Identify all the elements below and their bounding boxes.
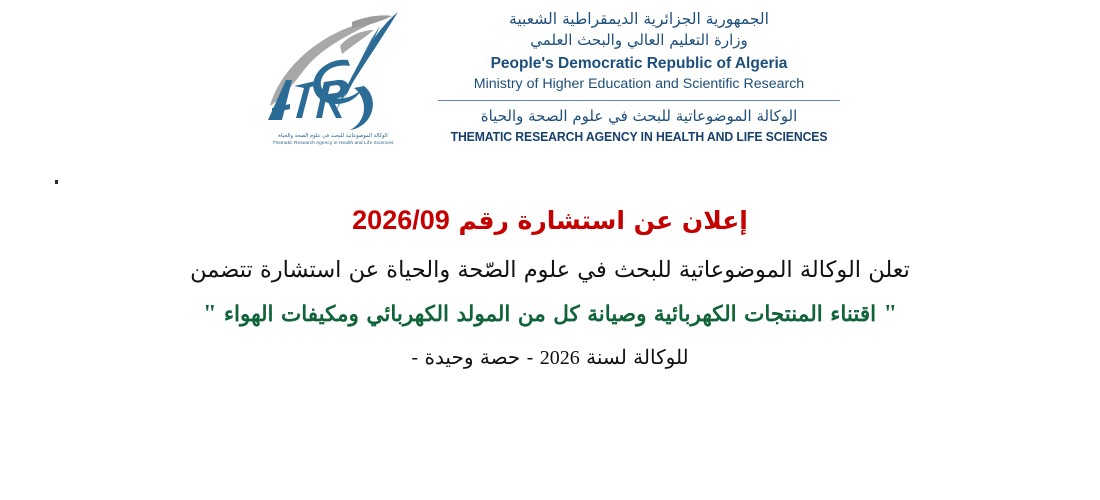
- republic-name-arabic: الجمهورية الجزائرية الديمقراطية الشعبية: [437, 8, 841, 30]
- ministry-header-text: الجمهورية الجزائرية الديمقراطية الشعبية …: [437, 8, 841, 147]
- announcement-number: 2026/09: [352, 205, 450, 235]
- agency-name-english: THEMATIC RESEARCH AGENCY IN HEALTH AND L…: [443, 128, 835, 147]
- republic-name-english: People's Democratic Republic of Algeria: [437, 54, 841, 75]
- announcement-body: إعلان عن استشارة رقم 2026/09 تعلن الوكال…: [0, 200, 1100, 374]
- announcement-subject-line: " اقتناء المنتجات الكهربائية وصيانة كل م…: [0, 295, 1100, 333]
- logo-caption-english: Thematic Research Agency in Health and L…: [252, 140, 414, 145]
- quote-open: ": [884, 301, 897, 327]
- announcement-footer-prefix: للوكالة لسنة: [586, 345, 689, 369]
- atrss-logo-mark: [252, 8, 422, 138]
- quote-close: ": [203, 301, 216, 327]
- announcement-year: 2026: [540, 347, 580, 369]
- announcement-footer-suffix: - حصة وحيدة -: [411, 345, 533, 369]
- announcement-page: { "colors": { "navy": "#1d4f7c", "red": …: [0, 0, 1100, 500]
- ministry-name-arabic: وزارة التعليم العالي والبحث العلمي: [437, 30, 841, 52]
- agency-name-arabic: الوكالة الموضوعاتية للبحث في علوم الصحة …: [437, 105, 841, 128]
- announcement-subject: اقتناء المنتجات الكهربائية وصيانة كل من …: [224, 302, 876, 327]
- ministry-name-english: Ministry of Higher Education and Scienti…: [437, 75, 841, 94]
- header-divider: [438, 100, 840, 101]
- announcement-footer: للوكالة لسنة 2026 - حصة وحيدة -: [0, 342, 1100, 374]
- announcement-title: إعلان عن استشارة رقم 2026/09: [0, 200, 1100, 241]
- logo-caption: الوكالة الموضوعاتية للبحث في علوم الصحة …: [252, 134, 414, 145]
- announcement-intro: تعلن الوكالة الموضوعاتية للبحث في علوم ا…: [0, 253, 1100, 288]
- announcement-title-prefix: إعلان عن استشارة رقم: [458, 206, 747, 235]
- atrss-logo: الوكالة الموضوعاتية للبحث في علوم الصحة …: [252, 8, 422, 168]
